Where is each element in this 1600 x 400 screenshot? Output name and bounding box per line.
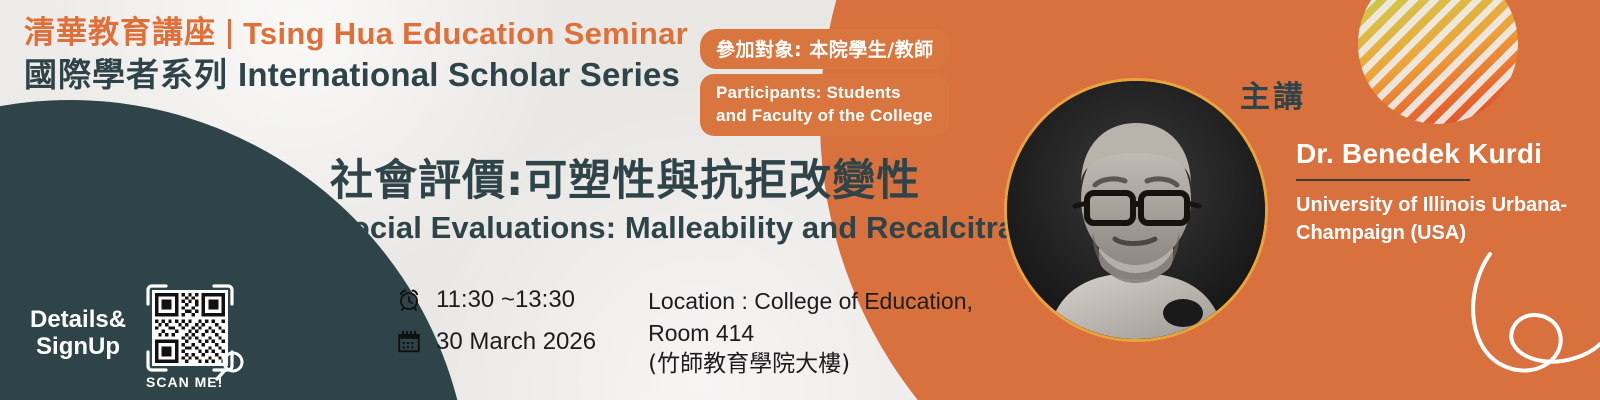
participants-badge-en-line2: and Faculty of the College — [716, 104, 933, 127]
speaker-label: 主講 — [1240, 72, 1306, 116]
talk-title-cn: 社會評價:可塑性與抗拒改變性 — [330, 158, 1069, 204]
signup-label-line2: SignUp — [30, 334, 126, 361]
swirl-line-decoration — [1370, 236, 1600, 386]
qr-holder[interactable]: SCAN ME! — [140, 278, 240, 390]
speaker-name: Dr. Benedek Kurdi — [1296, 138, 1586, 170]
location-line-1: Location : College of Education, — [648, 286, 973, 318]
series-subtitle-cn: 國際學者系列 — [24, 58, 228, 91]
alarm-clock-icon — [396, 287, 422, 313]
speaker-photo — [1004, 78, 1268, 342]
location-line-2: Room 414 — [648, 318, 973, 350]
signup-label: Details& SignUp — [30, 307, 126, 361]
date-row: 30 March 2026 — [396, 328, 596, 356]
stripe-mask — [1358, 0, 1518, 124]
speaker-divider — [1296, 179, 1470, 181]
speaker-affiliation-line1: University of Illinois Urbana- — [1296, 192, 1586, 220]
time-date-column: 11:30 ~13:30 30 March 2026 — [396, 286, 596, 381]
signup-block[interactable]: Details& SignUp — [30, 278, 240, 390]
talk-title-block: 社會評價:可塑性與抗拒改變性 Social Evaluations: Malle… — [330, 158, 1069, 246]
calendar-icon — [396, 329, 422, 355]
banner-header: 清華教育講座 Tsing Hua Education Seminar 國際學者系… — [24, 18, 688, 91]
magnifier-icon — [212, 350, 246, 384]
time-row: 11:30 ~13:30 — [396, 286, 596, 314]
event-time: 11:30 ~13:30 — [436, 286, 575, 314]
event-date: 30 March 2026 — [436, 328, 596, 356]
series-subtitle-en: International Scholar Series — [238, 58, 680, 91]
striped-circle-decoration — [1358, 0, 1518, 124]
series-title-cn: 清華教育講座 — [24, 18, 216, 49]
participants-badge-en: Participants: Students and Faculty of th… — [700, 74, 949, 136]
talk-title-en: Social Evaluations: Malleability and Rec… — [330, 210, 1069, 246]
header-divider — [228, 19, 231, 49]
location-line-3: (竹師教育學院大樓) — [648, 349, 973, 381]
speaker-affiliation: University of Illinois Urbana- Champaign… — [1296, 192, 1586, 247]
header-line-2: 國際學者系列 International Scholar Series — [24, 58, 688, 91]
location-column: Location : College of Education, Room 41… — [648, 286, 973, 381]
series-title-en: Tsing Hua Education Seminar — [243, 18, 688, 49]
participants-badge-cn: 參加對象: 本院學生/教師 — [700, 29, 950, 69]
event-details: 11:30 ~13:30 30 March 2026 Location : Co… — [396, 286, 973, 381]
speaker-affiliation-line2: Champaign (USA) — [1296, 220, 1586, 248]
participants-badge-en-line1: Participants: Students — [716, 81, 933, 104]
signup-label-line1: Details& — [30, 307, 126, 334]
seminar-banner: 清華教育講座 Tsing Hua Education Seminar 國際學者系… — [0, 0, 1600, 400]
speaker-info: Dr. Benedek Kurdi University of Illinois… — [1296, 138, 1586, 247]
header-line-1: 清華教育講座 Tsing Hua Education Seminar — [24, 18, 688, 49]
